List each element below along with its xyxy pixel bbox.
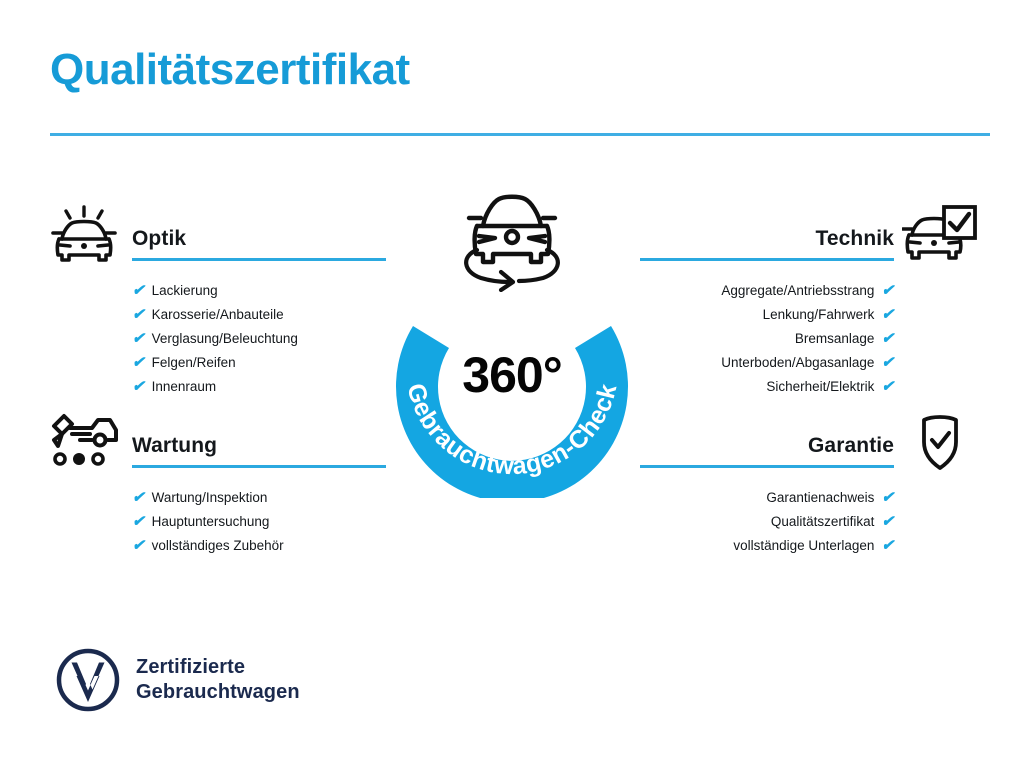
check-icon: ✔ — [132, 283, 145, 298]
list-item-label: Lackierung — [152, 279, 218, 303]
list-item: Unterboden/Abgasanlage✔ — [628, 351, 978, 375]
list-item: Lenkung/Fahrwerk✔ — [628, 303, 978, 327]
list-item-label: Felgen/Reifen — [152, 351, 236, 375]
list-item-label: Innenraum — [152, 375, 217, 399]
list-item: ✔Felgen/Reifen — [48, 351, 398, 375]
list-item-label: Verglasung/Beleuchtung — [152, 327, 298, 351]
check-icon: ✔ — [132, 331, 145, 346]
list-item: Bremsanlage✔ — [628, 327, 978, 351]
section-list-optik: ✔Lackierung ✔Karosserie/Anbauteile ✔Verg… — [48, 267, 398, 399]
list-item: Garantienachweis✔ — [628, 486, 978, 510]
section-title-optik: Optik — [132, 227, 186, 251]
section-underline-optik — [132, 258, 386, 261]
check-icon: ✔ — [881, 331, 894, 346]
header-divider — [50, 133, 990, 136]
section-title-wartung: Wartung — [132, 434, 217, 458]
footer-logo-block: Zertifizierte Gebrauchtwagen — [56, 648, 300, 712]
list-item: ✔Lackierung — [48, 279, 398, 303]
car-front-checkbox-icon — [902, 205, 978, 267]
car-on-lift-icon — [48, 412, 124, 474]
check-icon: ✔ — [881, 514, 894, 529]
list-item-label: Unterboden/Abgasanlage — [721, 351, 874, 375]
section-list-garantie: Garantienachweis✔ Qualitätszertifikat✔ v… — [628, 474, 978, 558]
footer-text: Zertifizierte Gebrauchtwagen — [136, 655, 300, 705]
list-item-label: Bremsanlage — [795, 327, 875, 351]
section-wartung: Wartung ✔Wartung/Inspektion ✔Hauptunters… — [48, 412, 398, 558]
section-header-optik: Optik — [48, 205, 398, 267]
check-icon: ✔ — [881, 490, 894, 505]
section-title-technik: Technik — [816, 227, 895, 251]
section-title-garantie: Garantie — [808, 434, 894, 458]
list-item-label: vollständige Unterlagen — [733, 534, 874, 558]
check-icon: ✔ — [132, 514, 145, 529]
section-underline-wartung — [132, 465, 386, 468]
list-item-label: Karosserie/Anbauteile — [152, 303, 284, 327]
badge-360-gebrauchtwagen-check: Gebrauchtwagen-Check 360° — [379, 188, 645, 498]
check-icon: ✔ — [132, 538, 145, 553]
list-item: ✔Karosserie/Anbauteile — [48, 303, 398, 327]
car-front-shine-icon — [48, 205, 124, 267]
section-underline-technik — [640, 258, 894, 261]
vw-logo — [56, 648, 120, 712]
list-item: Sicherheit/Elektrik✔ — [628, 375, 978, 399]
list-item-label: vollständiges Zubehör — [152, 534, 284, 558]
list-item-label: Sicherheit/Elektrik — [766, 375, 874, 399]
section-header-garantie: Garantie — [628, 412, 978, 474]
list-item: Aggregate/Antriebsstrang✔ — [628, 279, 978, 303]
check-icon: ✔ — [132, 307, 145, 322]
footer-line-1: Zertifizierte — [136, 655, 300, 680]
shield-check-icon — [902, 412, 978, 474]
list-item: ✔Hauptuntersuchung — [48, 510, 398, 534]
section-list-wartung: ✔Wartung/Inspektion ✔Hauptuntersuchung ✔… — [48, 474, 398, 558]
list-item-label: Garantienachweis — [766, 486, 874, 510]
check-icon: ✔ — [881, 538, 894, 553]
list-item-label: Lenkung/Fahrwerk — [763, 303, 875, 327]
section-list-technik: Aggregate/Antriebsstrang✔ Lenkung/Fahrwe… — [628, 267, 978, 399]
list-item-label: Wartung/Inspektion — [152, 486, 268, 510]
car-front-rotate-icon — [455, 188, 569, 292]
section-underline-garantie — [640, 465, 894, 468]
list-item-label: Hauptuntersuchung — [152, 510, 270, 534]
list-item: ✔vollständiges Zubehör — [48, 534, 398, 558]
check-icon: ✔ — [881, 283, 894, 298]
list-item-label: Qualitätszertifikat — [771, 510, 875, 534]
section-optik: Optik ✔Lackierung ✔Karosserie/Anbauteile… — [48, 205, 398, 399]
check-icon: ✔ — [881, 307, 894, 322]
list-item-label: Aggregate/Antriebsstrang — [721, 279, 874, 303]
section-technik: Technik Aggregate/Antriebsstrang✔ Lenkun… — [628, 205, 978, 399]
check-icon: ✔ — [881, 379, 894, 394]
list-item: ✔Innenraum — [48, 375, 398, 399]
check-icon: ✔ — [132, 355, 145, 370]
footer-line-2: Gebrauchtwagen — [136, 680, 300, 705]
section-header-wartung: Wartung — [48, 412, 398, 474]
list-item: ✔Verglasung/Beleuchtung — [48, 327, 398, 351]
list-item: vollständige Unterlagen✔ — [628, 534, 978, 558]
page-title: Qualitätszertifikat — [50, 47, 410, 93]
badge-ring: Gebrauchtwagen-Check — [379, 260, 645, 498]
list-item: Qualitätszertifikat✔ — [628, 510, 978, 534]
check-icon: ✔ — [132, 379, 145, 394]
section-header-technik: Technik — [628, 205, 978, 267]
check-icon: ✔ — [132, 490, 145, 505]
section-garantie: Garantie Garantienachweis✔ Qualitätszert… — [628, 412, 978, 558]
list-item: ✔Wartung/Inspektion — [48, 486, 398, 510]
check-icon: ✔ — [881, 355, 894, 370]
